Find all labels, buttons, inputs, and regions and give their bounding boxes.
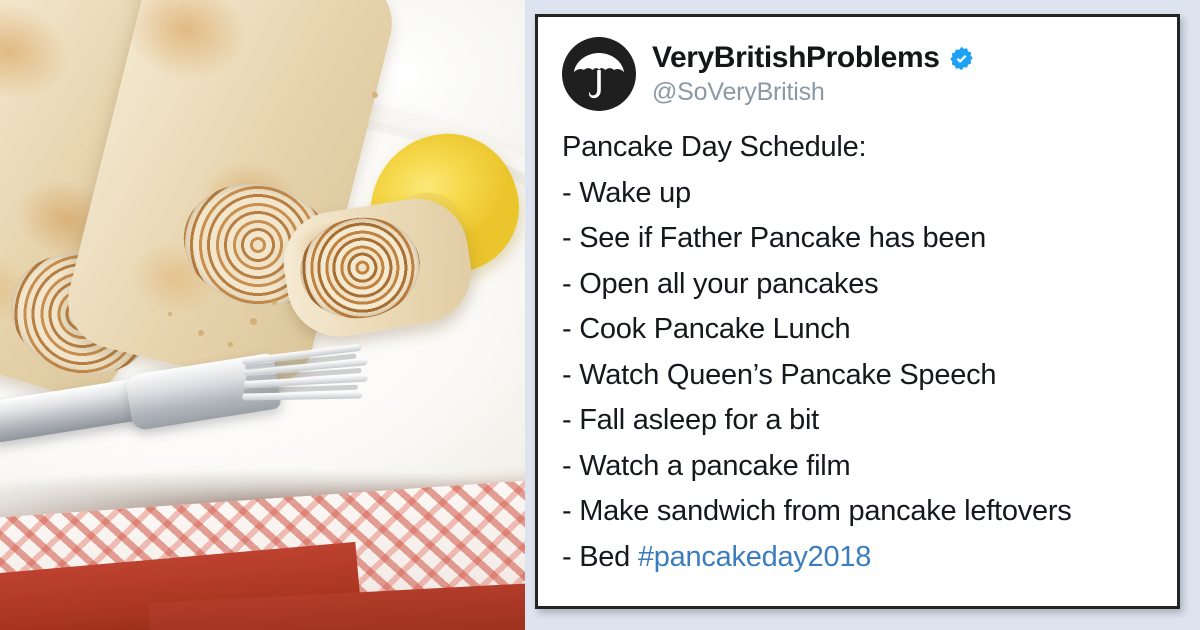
- tweet-header: VeryBritishProblems @SoVeryBritish: [562, 37, 1159, 111]
- avatar[interactable]: [562, 37, 636, 111]
- tweet-line: - See if Father Pancake has been: [562, 216, 1159, 262]
- tweet-line-text: - Open all your pancakes: [562, 268, 878, 300]
- tweet-line: - Fall asleep for a bit: [562, 398, 1159, 444]
- tweet-line: - Watch a pancake film: [562, 444, 1159, 490]
- crumb: [168, 312, 172, 316]
- tweet-line-text: - Fall asleep for a bit: [562, 404, 819, 436]
- verified-badge-icon: [949, 46, 974, 71]
- tweet-line-text: - Wake up: [562, 177, 691, 209]
- tweet-line-text: Pancake Day Schedule:: [562, 131, 866, 163]
- tweet-line-text: - See if Father Pancake has been: [562, 222, 986, 254]
- tweet-line: - Make sandwich from pancake leftovers: [562, 489, 1159, 535]
- crumb: [372, 92, 378, 98]
- tweet-line: - Open all your pancakes: [562, 262, 1159, 308]
- display-name-row: VeryBritishProblems: [652, 41, 974, 75]
- tweet-line-text: - Bed: [562, 541, 638, 573]
- tweet-line-text: - Cook Pancake Lunch: [562, 313, 850, 345]
- tweet-line: - Watch Queen’s Pancake Speech: [562, 353, 1159, 399]
- tweet-text: Pancake Day Schedule: - Wake up - See if…: [562, 125, 1159, 580]
- umbrella-icon: [573, 49, 625, 99]
- pancake-photo: [0, 0, 525, 630]
- tweet-line: Pancake Day Schedule:: [562, 125, 1159, 171]
- tweet-line-text: - Watch Queen’s Pancake Speech: [562, 359, 996, 391]
- tweet-line: - Wake up: [562, 171, 1159, 217]
- tweet-author: VeryBritishProblems @SoVeryBritish: [652, 37, 974, 107]
- tweet-card: VeryBritishProblems @SoVeryBritish Panca…: [535, 14, 1180, 609]
- hashtag-link[interactable]: #pancakeday2018: [638, 541, 871, 573]
- tweet-line: - Cook Pancake Lunch: [562, 307, 1159, 353]
- tweet-line-text: - Watch a pancake film: [562, 450, 850, 482]
- handle: @SoVeryBritish: [652, 78, 974, 107]
- crumb: [272, 300, 277, 305]
- display-name: VeryBritishProblems: [652, 41, 940, 75]
- crumb: [198, 330, 204, 336]
- crumb: [250, 318, 257, 325]
- tweet-line-with-hashtag: - Bed #pancakeday2018: [562, 535, 1159, 581]
- tweet-line-text: - Make sandwich from pancake leftovers: [562, 495, 1072, 527]
- screenshot-root: VeryBritishProblems @SoVeryBritish Panca…: [0, 0, 1200, 630]
